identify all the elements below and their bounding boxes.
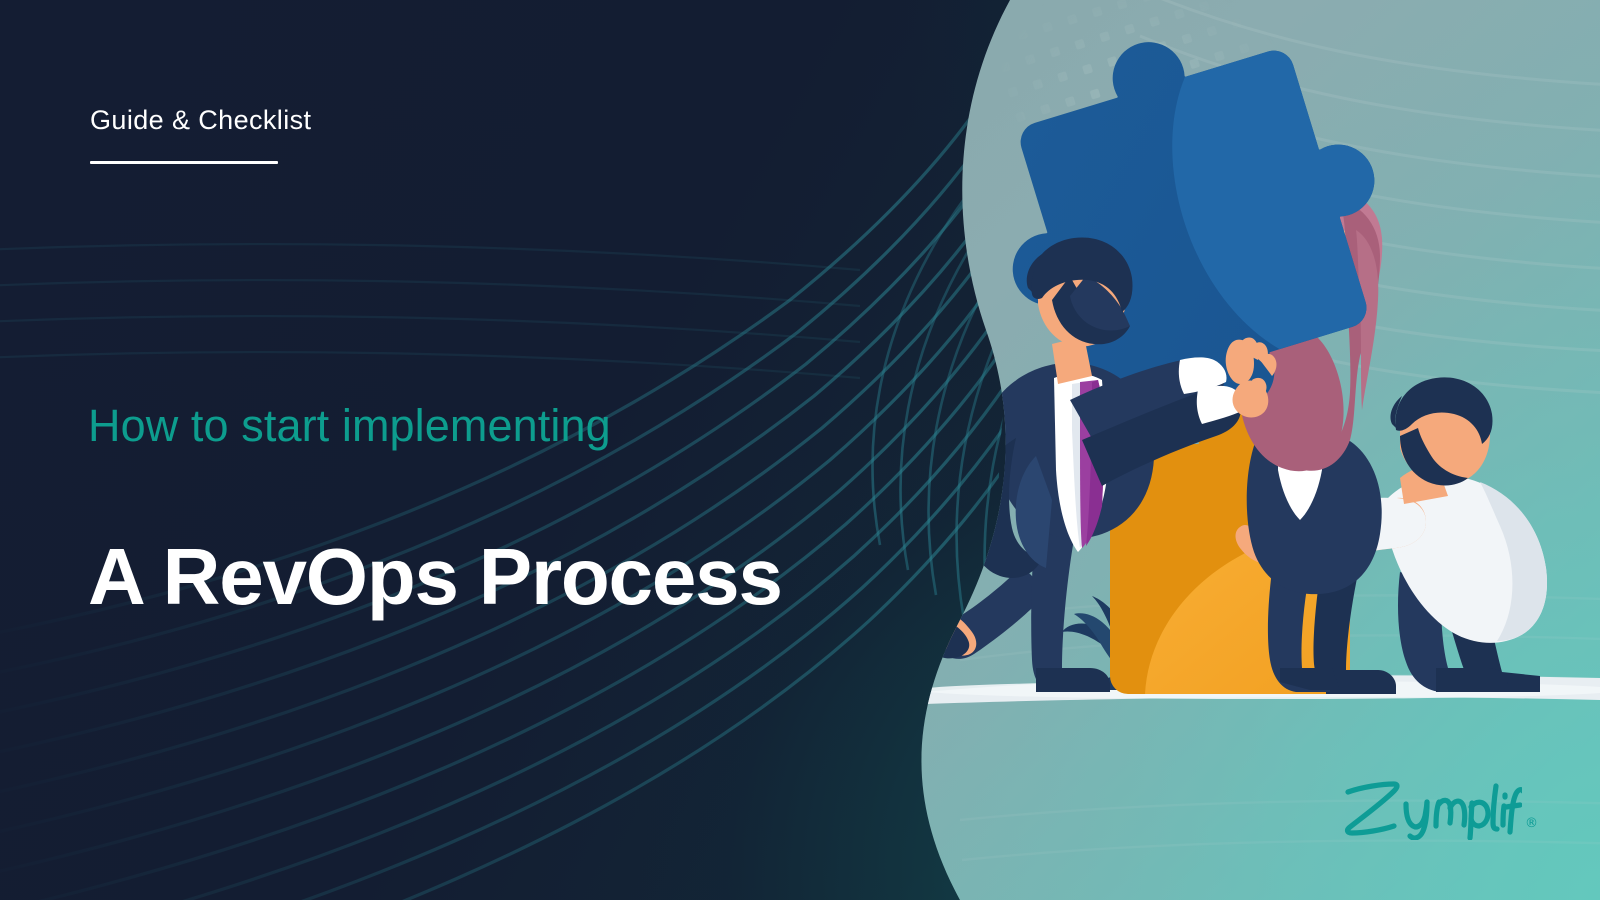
illustration-panel xyxy=(840,0,1600,900)
eyebrow-label: Guide & Checklist xyxy=(90,105,311,136)
title-divider-rule xyxy=(90,161,278,164)
page-title: A RevOps Process xyxy=(88,531,782,623)
zymplify-logo[interactable]: ® xyxy=(1340,778,1538,840)
registered-trademark-icon: ® xyxy=(1525,817,1538,840)
panel-shape-and-illustration xyxy=(840,0,1600,900)
zymplify-wordmark-icon xyxy=(1340,778,1522,840)
subtitle-kicker: How to start implementing xyxy=(88,400,611,452)
cover-canvas: Guide & Checklist How to start implement… xyxy=(0,0,1600,900)
